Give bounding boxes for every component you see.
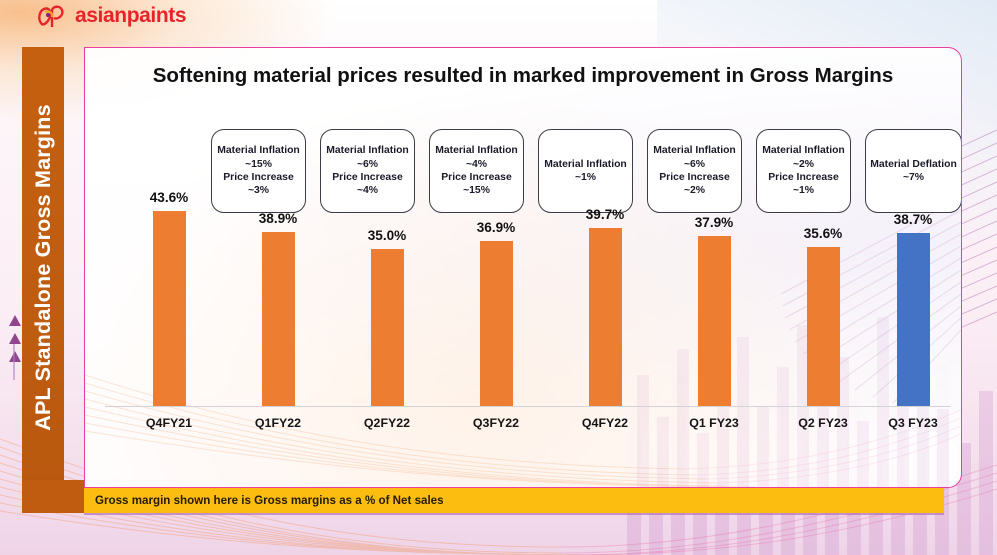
x-axis-tick-label: Q1FY22 — [233, 416, 323, 430]
bar-Q3-FY23 — [897, 233, 930, 406]
footnote-underline — [84, 513, 944, 515]
footnote-left-cap — [22, 480, 84, 513]
bar-Q2FY22 — [371, 249, 404, 406]
bar-Q1-FY23 — [698, 236, 731, 406]
x-axis-tick-label: Q4FY21 — [124, 416, 214, 430]
x-axis-tick-label: Q3 FY23 — [868, 416, 958, 430]
bar-value-label: 37.9% — [679, 215, 749, 230]
bar-value-label: 38.7% — [878, 212, 948, 227]
x-axis-tick-label: Q2FY22 — [342, 416, 432, 430]
bar-Q4FY22 — [589, 228, 622, 406]
bar-chart: 43.6%Q4FY2138.9%Q1FY2235.0%Q2FY2236.9%Q3… — [85, 48, 962, 488]
bar-Q3FY22 — [480, 241, 513, 406]
bar-value-label: 43.6% — [134, 190, 204, 205]
brand-logo: asianpaints — [36, 1, 186, 31]
bar-value-label: 35.0% — [352, 228, 422, 243]
ap-monogram-icon — [36, 3, 68, 29]
sidebar-title-bar: APL Standalone Gross Margins — [22, 47, 64, 487]
chart-baseline — [105, 406, 950, 407]
x-axis-tick-label: Q4FY22 — [560, 416, 650, 430]
slide-content-panel: Softening material prices resulted in ma… — [84, 47, 962, 488]
bar-Q2-FY23 — [807, 247, 840, 406]
x-axis-tick-label: Q3FY22 — [451, 416, 541, 430]
footnote-text: Gross margin shown here is Gross margins… — [95, 494, 444, 507]
x-axis-tick-label: Q2 FY23 — [778, 416, 868, 430]
bar-value-label: 38.9% — [243, 211, 313, 226]
bar-value-label: 35.6% — [788, 226, 858, 241]
bar-Q1FY22 — [262, 232, 295, 406]
bar-value-label: 36.9% — [461, 220, 531, 235]
brand-logo-text: asianpaints — [75, 4, 186, 28]
bar-Q4FY21 — [153, 211, 186, 406]
x-axis-tick-label: Q1 FY23 — [669, 416, 759, 430]
bar-value-label: 39.7% — [570, 207, 640, 222]
sidebar-title-label: APL Standalone Gross Margins — [31, 104, 56, 431]
footnote-banner: Gross margin shown here is Gross margins… — [84, 488, 944, 513]
